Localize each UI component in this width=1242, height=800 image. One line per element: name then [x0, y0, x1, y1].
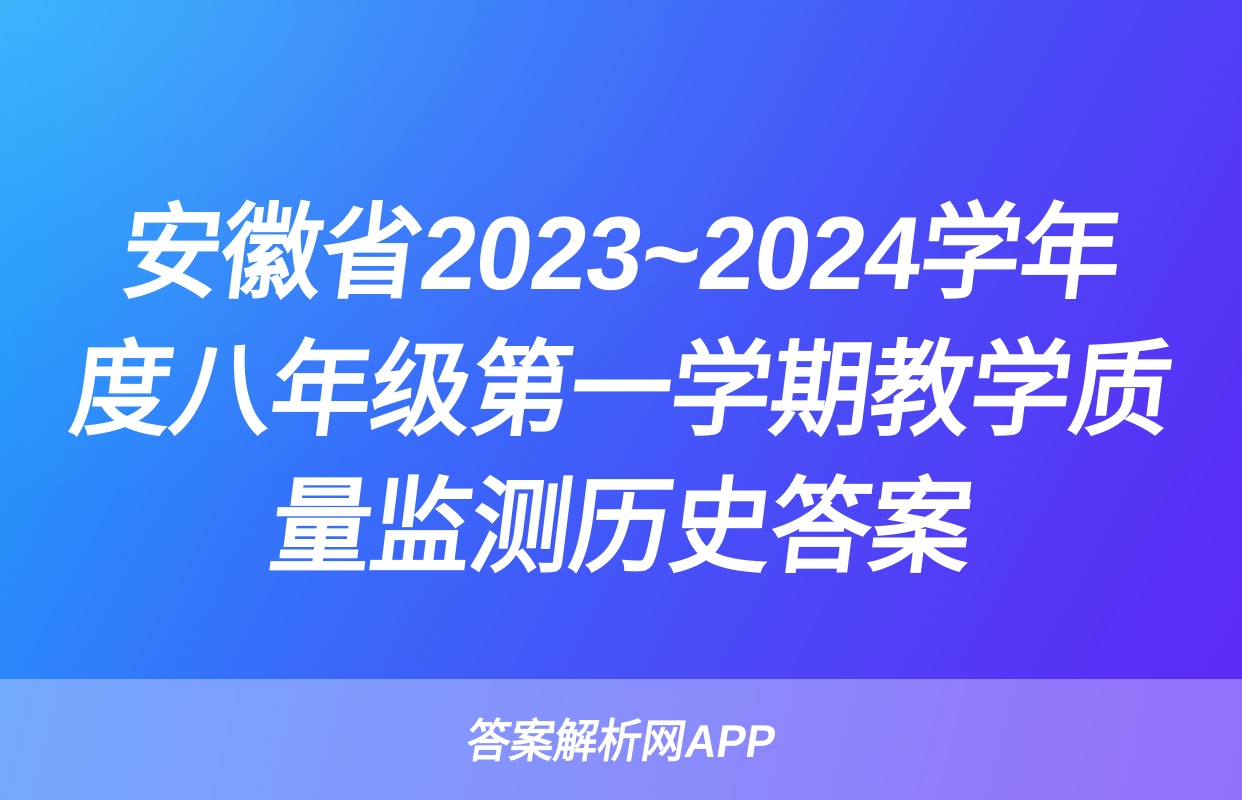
page-title: 安徽省2023~2024学年 度八年级第一学期教学质 量监测历史答案: [0, 186, 1242, 597]
title-line-1: 安徽省2023~2024学年: [55, 186, 1187, 323]
footer-brand-band: 答案解析网APP: [0, 679, 1242, 800]
footer-brand-label: 答案解析网APP: [463, 718, 779, 764]
title-line-2: 度八年级第一学期教学质: [55, 323, 1187, 460]
title-line-3: 量监测历史答案: [55, 460, 1187, 597]
poster-canvas: 安徽省2023~2024学年 度八年级第一学期教学质 量监测历史答案 答案解析网…: [0, 0, 1242, 800]
